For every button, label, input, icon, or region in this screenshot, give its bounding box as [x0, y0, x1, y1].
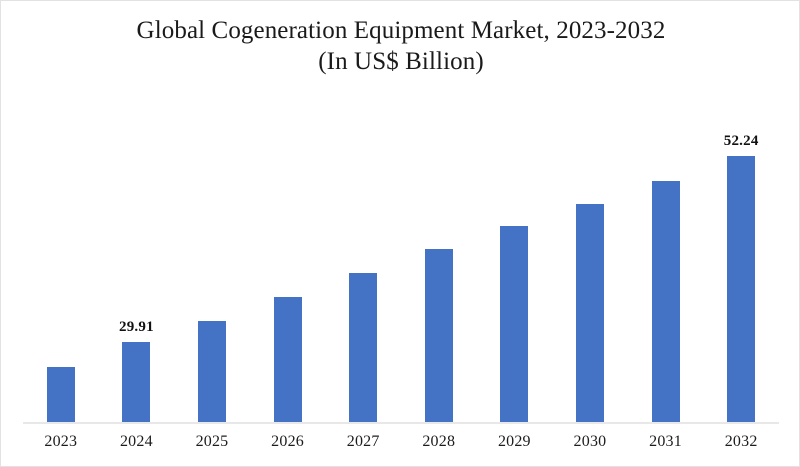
bar-slot-2029	[477, 101, 553, 423]
x-tick-2023: 2023	[23, 433, 99, 451]
bar-value-label-2024: 29.91	[119, 319, 154, 336]
chart-title: Global Cogeneration Equipment Market, 20…	[1, 15, 800, 77]
x-tick-2031: 2031	[628, 433, 704, 451]
x-tick-2028: 2028	[401, 433, 477, 451]
bar-2024[interactable]	[122, 342, 150, 423]
bar-slot-2031	[628, 101, 704, 423]
bar-2025[interactable]	[198, 321, 226, 423]
plot-area: 29.91	[23, 101, 779, 424]
x-axis-tick-labels: 2023 2024 2025 2026 2027 2028 2029 2030 …	[23, 433, 779, 451]
bar-slot-2032: 52.24	[703, 101, 779, 423]
bar-value-label-2032: 52.24	[724, 133, 759, 150]
bar-2023[interactable]	[47, 367, 75, 423]
bar-2031[interactable]	[652, 181, 680, 423]
bar-2030[interactable]	[576, 204, 604, 423]
bar-2027[interactable]	[349, 273, 377, 423]
x-tick-2027: 2027	[325, 433, 401, 451]
bar-slot-2025	[174, 101, 250, 423]
x-tick-2030: 2030	[552, 433, 628, 451]
bar-2032[interactable]	[727, 156, 755, 423]
x-tick-2032: 2032	[703, 433, 779, 451]
bar-slot-2026	[250, 101, 326, 423]
chart-title-line-2: (In US$ Billion)	[1, 46, 800, 77]
x-tick-2029: 2029	[477, 433, 553, 451]
bar-slot-2027	[325, 101, 401, 423]
chart-container: Global Cogeneration Equipment Market, 20…	[0, 0, 800, 467]
category-axis-line	[23, 422, 779, 424]
bars-layer: 29.91	[23, 101, 779, 423]
x-tick-2024: 2024	[99, 433, 175, 451]
bar-2029[interactable]	[500, 226, 528, 423]
chart-title-line-1: Global Cogeneration Equipment Market, 20…	[1, 15, 800, 46]
bar-slot-2028	[401, 101, 477, 423]
x-tick-2025: 2025	[174, 433, 250, 451]
bar-2028[interactable]	[425, 249, 453, 423]
bar-2026[interactable]	[274, 297, 302, 423]
bar-slot-2023	[23, 101, 99, 423]
bar-slot-2030	[552, 101, 628, 423]
x-tick-2026: 2026	[250, 433, 326, 451]
bar-slot-2024: 29.91	[99, 101, 175, 423]
